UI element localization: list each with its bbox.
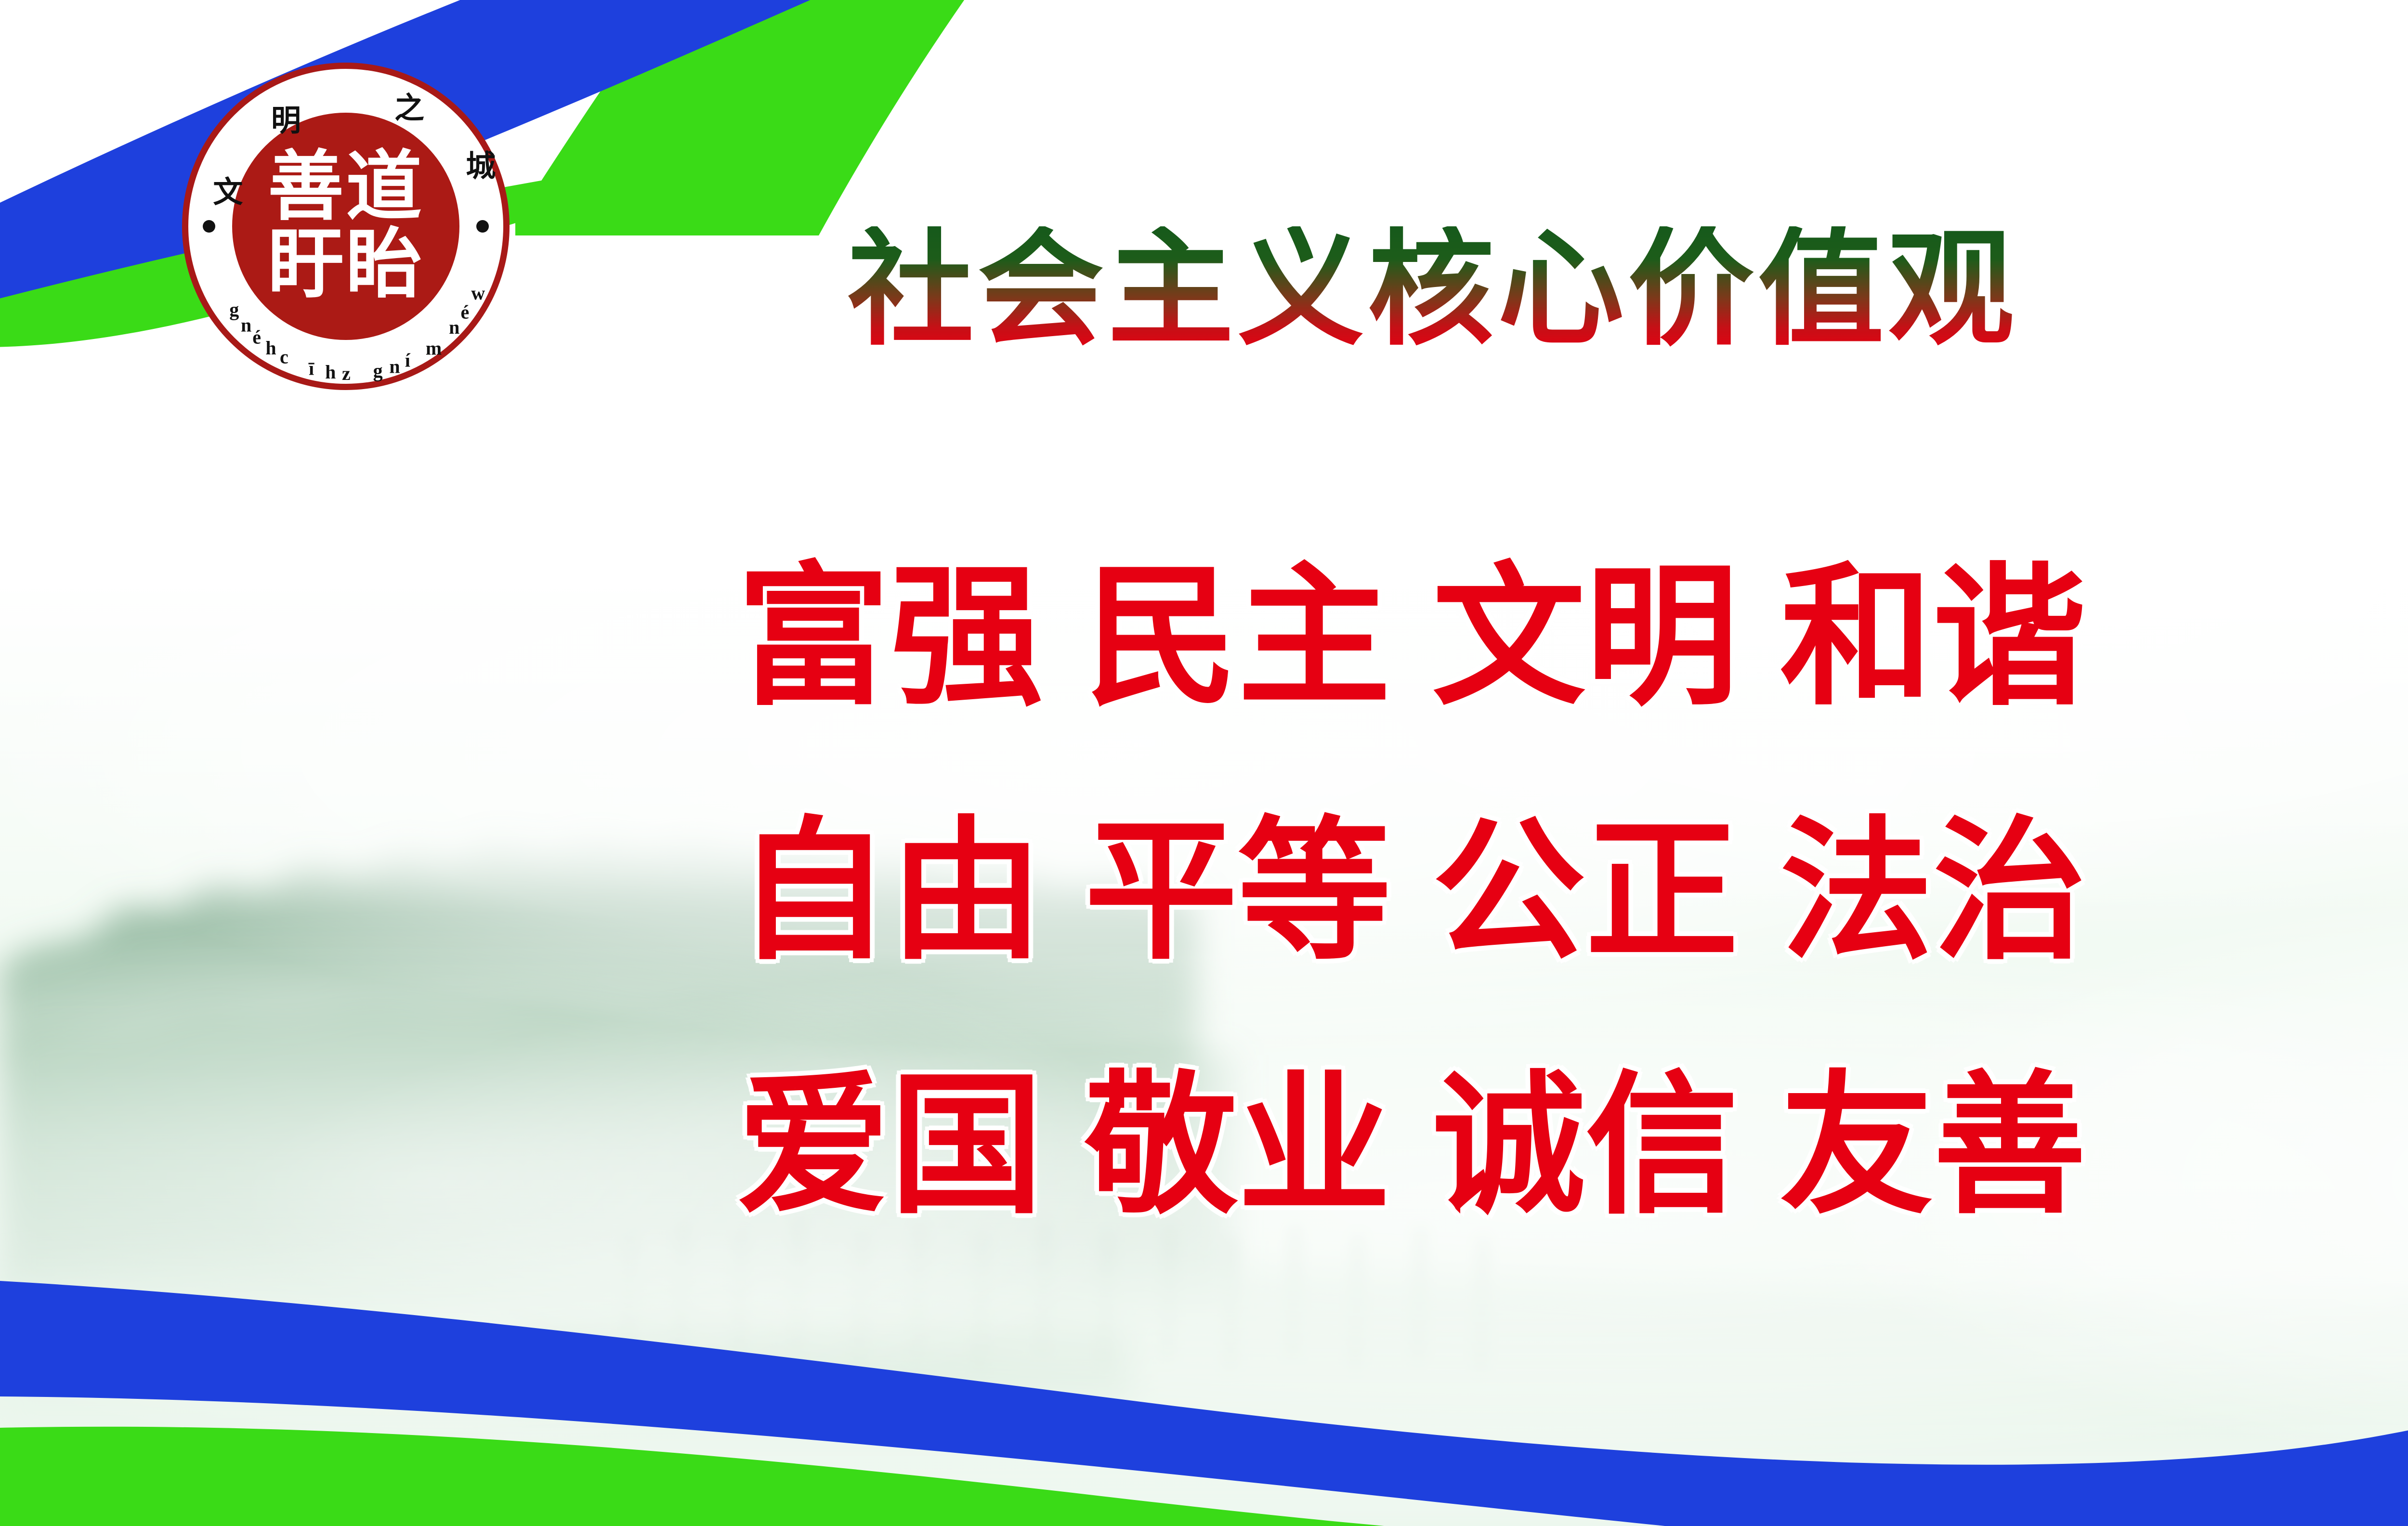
- seal-pinyin-char-13: n: [241, 316, 251, 335]
- seal-pinyin-char-1: é: [460, 302, 469, 322]
- seal-pinyin-char-3: m: [426, 339, 442, 358]
- seal-pinyin-char-0: w: [471, 284, 485, 303]
- seal-pinyin-char-7: z: [342, 364, 351, 383]
- seal-pinyin-char-2: n: [449, 318, 459, 337]
- seal-pinyin-char-11: h: [265, 339, 276, 358]
- seal-pinyin-char-4: í: [405, 351, 410, 370]
- ribbon-green-top: [515, 0, 2408, 235]
- seal-pinyin-char-14: g: [229, 300, 239, 319]
- seal-pinyin-char-5: n: [389, 357, 400, 377]
- seal-pinyin-char-9: ī: [309, 359, 314, 378]
- seal-pinyin-char-10: c: [280, 347, 288, 366]
- seal-pinyin-arc: w é n m í n g z h ī c h é n g: [188, 69, 503, 384]
- seal-pinyin-char-6: g: [373, 362, 383, 381]
- ribbon-blue-bottom-main: [0, 881, 2408, 1526]
- seal-pinyin-char-12: é: [252, 328, 261, 347]
- city-logo-seal: 文 明 之 城 善道 盱眙 w é n m í n g z h ī c h é …: [182, 63, 510, 390]
- socialist-core-values-banner: 文 明 之 城 善道 盱眙 w é n m í n g z h ī c h é …: [0, 0, 2408, 1526]
- seal-pinyin-char-8: h: [325, 363, 336, 382]
